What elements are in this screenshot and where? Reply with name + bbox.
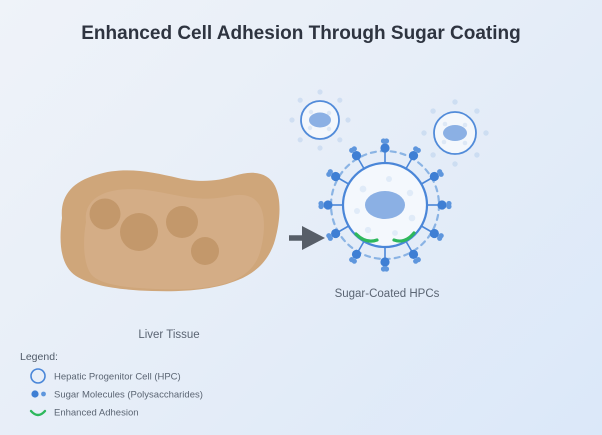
legend-item-label: Enhanced Adhesion — [54, 408, 139, 419]
cytoplasm-speck — [463, 123, 468, 128]
cytoplasm-speck — [327, 127, 331, 131]
sugar-molecule — [323, 172, 343, 239]
sugar-molecule — [427, 172, 447, 239]
sugar-dot-main — [331, 172, 340, 181]
cell-nucleus — [309, 113, 331, 128]
sugar-dot-main — [380, 257, 389, 266]
halo-speck — [345, 117, 350, 122]
small-cells-group — [289, 89, 488, 166]
sugar-dot-branch — [413, 259, 418, 264]
sugar-coated-hpcs-label: Sugar-Coated HPCs — [335, 288, 440, 300]
sugar-dot-branch — [439, 172, 444, 177]
cytoplasm-speck — [407, 190, 413, 196]
cytoplasm-speck — [443, 122, 448, 127]
liver-tissue-label: Liver Tissue — [138, 329, 199, 341]
legend-title: Legend: — [20, 351, 58, 363]
legend-item-label: Hepatic Progenitor Cell (HPC) — [54, 372, 181, 383]
legend-item-hpc[interactable]: Hepatic Progenitor Cell (HPC) — [31, 369, 181, 383]
cell-nucleus — [365, 191, 405, 219]
sugar-dot-branch — [318, 201, 323, 206]
halo-speck — [452, 161, 457, 166]
liver-tissue-spot — [120, 213, 158, 251]
legend: Legend: Hepatic Progenitor Cell (HPC) Su… — [20, 351, 203, 419]
liver-tissue-group — [61, 170, 280, 291]
cytoplasm-speck — [386, 176, 392, 182]
sugar-coated-cell-group — [318, 138, 451, 271]
sugar-molecule — [352, 143, 419, 163]
halo-speck — [317, 89, 322, 94]
halo-speck — [298, 137, 303, 142]
sugar-dot-main — [430, 172, 439, 181]
liver-tissue-spot — [166, 206, 198, 238]
cytoplasm-speck — [365, 227, 371, 233]
legend-item-sugar[interactable]: Sugar Molecules (Polysaccharides) — [31, 390, 203, 401]
cytoplasm-speck — [409, 215, 416, 222]
process-arrow-group — [289, 226, 325, 250]
sugar-dot-branch — [446, 204, 451, 209]
hpc-circle-icon — [31, 369, 45, 383]
halo-speck — [430, 152, 435, 157]
halo-speck — [298, 98, 303, 103]
sugar-dot-branch — [381, 266, 386, 271]
sugar-dot-main — [331, 229, 340, 238]
cytoplasm-speck — [463, 141, 468, 146]
cell-nucleus — [443, 125, 467, 141]
halo-speck — [337, 137, 342, 142]
cytoplasm-speck — [309, 110, 313, 114]
sugar-dot-main — [409, 151, 418, 160]
halo-speck — [289, 117, 294, 122]
sugar-dot-main — [323, 200, 332, 209]
sugar-dot-branch — [437, 236, 442, 241]
figure-root: Enhanced Cell Adhesion Through Sugar Coa… — [0, 0, 602, 435]
halo-speck — [430, 108, 435, 113]
cytoplasm-speck — [354, 208, 360, 214]
cytoplasm-speck — [442, 140, 447, 145]
diagram-canvas: Enhanced Cell Adhesion Through Sugar Coa… — [0, 0, 602, 435]
sugar-dot-main — [352, 250, 361, 259]
sugar-dot-main — [352, 151, 361, 160]
cytoplasm-speck — [392, 230, 398, 236]
sugar-dot-branch — [381, 138, 386, 143]
adhesion-arc-icon — [31, 411, 45, 415]
halo-speck — [483, 130, 488, 135]
halo-speck — [452, 99, 457, 104]
sugar-dot-main — [437, 200, 446, 209]
hpc-cell-upper-right — [421, 99, 488, 166]
sugar-molecule — [352, 247, 419, 267]
legend-item-adhesion[interactable]: Enhanced Adhesion — [31, 408, 139, 419]
sugar-dot-main — [430, 229, 439, 238]
sugar-dot-main — [409, 250, 418, 259]
sugar-dot-branch — [328, 169, 333, 174]
halo-speck — [474, 152, 479, 157]
sugar-dot-branch — [326, 233, 331, 238]
liver-tissue-spot — [90, 199, 121, 230]
sugar-dot-branch — [416, 148, 421, 153]
halo-speck — [474, 108, 479, 113]
arrow-head — [302, 226, 325, 250]
page-title: Enhanced Cell Adhesion Through Sugar Coa… — [81, 23, 520, 44]
sugar-dot-main — [380, 143, 389, 152]
cytoplasm-speck — [308, 126, 312, 130]
halo-speck — [421, 130, 426, 135]
sugar-dot-branch — [349, 257, 354, 262]
hpc-cell-upper-left — [289, 89, 350, 150]
halo-speck — [337, 98, 342, 103]
legend-item-label: Sugar Molecules (Polysaccharides) — [54, 390, 203, 401]
halo-speck — [317, 145, 322, 150]
sugar-dots-icon — [31, 390, 45, 397]
liver-tissue-spot — [191, 237, 219, 265]
cytoplasm-speck — [360, 186, 367, 193]
